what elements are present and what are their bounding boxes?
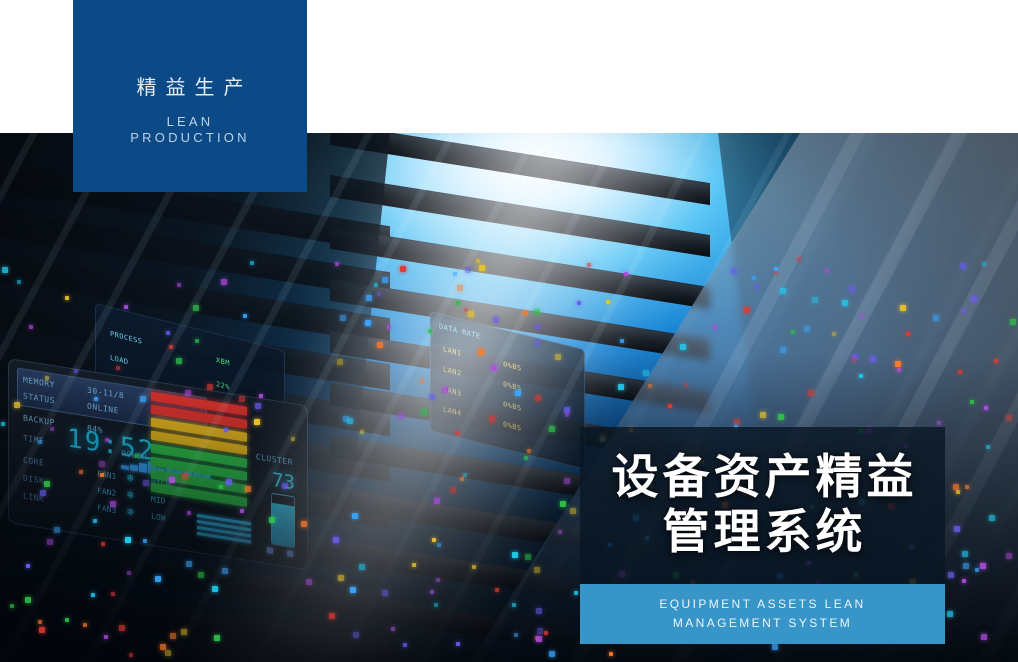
- rack-led: [333, 537, 339, 543]
- rack-led: [544, 631, 548, 635]
- title-cn-line2: 管理系统: [596, 504, 929, 559]
- rack-led: [986, 445, 990, 449]
- rack-led: [515, 390, 521, 396]
- rack-led: [535, 395, 541, 401]
- rack-led: [93, 519, 97, 523]
- rack-led: [38, 620, 42, 624]
- rack-led: [752, 276, 756, 280]
- rack-led: [365, 320, 371, 326]
- rack-led: [791, 330, 795, 334]
- rack-led: [684, 383, 688, 387]
- rack-led: [731, 268, 737, 274]
- rack-led: [337, 359, 343, 365]
- rack-led: [301, 521, 307, 527]
- rack-led: [14, 402, 20, 408]
- rack-led: [514, 633, 518, 637]
- rack-led: [186, 561, 192, 567]
- rack-led: [221, 279, 227, 285]
- rack-led: [400, 266, 406, 272]
- rack-led: [101, 542, 105, 546]
- rack-led: [852, 358, 856, 362]
- rack-led: [963, 563, 969, 569]
- rack-led: [50, 427, 54, 431]
- rack-led: [525, 554, 531, 560]
- rack-led: [937, 421, 941, 425]
- rack-led: [453, 272, 457, 276]
- rack-led: [110, 501, 116, 507]
- rack-led: [472, 565, 476, 569]
- rack-led: [26, 564, 30, 568]
- rack-led: [774, 267, 778, 271]
- rack-led: [170, 633, 176, 639]
- title-card-foot: EQUIPMENT ASSETS LEAN MANAGEMENT SYSTEM: [580, 584, 945, 644]
- rack-led: [193, 305, 199, 311]
- rack-led: [198, 572, 204, 578]
- rack-led: [842, 300, 848, 306]
- rack-led: [954, 526, 960, 532]
- rack-led: [306, 579, 312, 585]
- rack-led: [537, 628, 543, 634]
- rack-led: [65, 618, 69, 622]
- rack-led: [40, 490, 46, 496]
- rack-led: [377, 342, 383, 348]
- rack-led: [428, 329, 432, 333]
- rack-led: [982, 262, 986, 266]
- rack-led: [1010, 319, 1016, 325]
- rack-led: [618, 384, 624, 390]
- rack-led: [91, 593, 95, 597]
- rack-led: [536, 608, 542, 614]
- rack-led: [460, 477, 464, 481]
- rack-led: [536, 636, 542, 642]
- rack-led: [176, 358, 182, 364]
- rack-led: [222, 568, 228, 574]
- rack-led: [734, 419, 740, 425]
- rack-led: [214, 635, 220, 641]
- rack-led: [169, 477, 175, 483]
- rack-led: [335, 262, 339, 266]
- rack-led: [282, 483, 288, 489]
- rack-led: [212, 586, 218, 592]
- rack-led: [259, 394, 263, 398]
- rack-led: [534, 567, 540, 573]
- rack-led: [933, 315, 939, 321]
- rack-led: [1, 422, 5, 426]
- rack-led: [491, 365, 497, 371]
- rack-led: [1006, 415, 1012, 421]
- rack-led: [564, 478, 570, 484]
- rack-led: [421, 409, 427, 415]
- rack-led: [994, 359, 998, 363]
- rack-led: [104, 635, 108, 639]
- rack-led: [374, 283, 378, 287]
- rack-led: [620, 339, 624, 343]
- rack-led: [560, 501, 566, 507]
- rack-led: [359, 564, 365, 570]
- rack-led: [226, 479, 232, 485]
- rack-led: [956, 490, 960, 494]
- rack-led: [366, 295, 372, 301]
- rack-led: [129, 653, 133, 657]
- rack-led: [680, 344, 686, 350]
- rack-led: [100, 473, 104, 477]
- rack-led: [429, 394, 435, 400]
- rack-led: [160, 644, 166, 650]
- rack-led: [859, 374, 863, 378]
- rack-led: [456, 431, 460, 435]
- rack-led: [207, 384, 213, 390]
- rack-led: [195, 339, 199, 343]
- rack-led: [94, 397, 98, 401]
- rack-led: [980, 563, 986, 569]
- rack-led: [127, 571, 131, 575]
- rack-led: [239, 396, 245, 402]
- rack-led: [478, 349, 484, 355]
- rack-led: [565, 413, 569, 417]
- rack-led: [476, 259, 480, 263]
- rack-led: [79, 470, 83, 474]
- rack-led: [479, 265, 485, 271]
- rack-led: [797, 257, 801, 261]
- rack-led: [860, 314, 864, 318]
- rack-led: [182, 473, 188, 479]
- rack-led: [187, 511, 191, 515]
- rack-led: [648, 384, 652, 388]
- rack-led: [965, 485, 969, 489]
- rack-led: [377, 292, 381, 296]
- rack-led: [329, 613, 335, 619]
- rack-led: [897, 368, 901, 372]
- rack-led: [900, 305, 906, 311]
- rack-led: [29, 325, 33, 329]
- brand-en-line1: LEAN: [130, 114, 249, 130]
- rack-led: [387, 325, 391, 329]
- title-card: 设备资产精益 管理系统 EQUIPMENT ASSETS LEAN MANAGE…: [580, 427, 945, 644]
- rack-led: [606, 300, 610, 304]
- rack-led: [54, 527, 60, 533]
- rack-led: [352, 513, 358, 519]
- rack-led: [713, 325, 717, 329]
- rack-led: [412, 563, 416, 567]
- rack-led: [849, 286, 855, 292]
- rack-led: [534, 309, 540, 315]
- rack-led: [774, 270, 778, 274]
- rack-led: [398, 413, 404, 419]
- title-cn-line1: 设备资产精益: [596, 449, 929, 504]
- rack-led: [574, 591, 578, 595]
- rack-led: [105, 438, 109, 442]
- rack-led: [812, 297, 818, 303]
- rack-led: [524, 456, 528, 460]
- rack-led: [895, 361, 901, 367]
- rack-led: [981, 634, 987, 640]
- rack-led: [465, 267, 471, 273]
- rack-led: [291, 437, 295, 441]
- rack-led: [780, 288, 786, 294]
- rack-led: [555, 354, 561, 360]
- rack-led: [570, 508, 576, 514]
- rack-led: [111, 592, 115, 596]
- rack-led: [430, 590, 434, 594]
- rack-led: [434, 498, 440, 504]
- rack-led: [143, 539, 147, 543]
- title-en-subtitle: EQUIPMENT ASSETS LEAN MANAGEMENT SYSTEM: [659, 595, 865, 632]
- rack-led: [65, 296, 69, 300]
- rack-led: [489, 416, 495, 422]
- rack-led: [350, 587, 356, 593]
- rack-led: [99, 461, 105, 467]
- rack-led: [456, 301, 460, 305]
- rack-led: [420, 379, 424, 383]
- rack-led: [947, 611, 953, 617]
- rack-led: [962, 551, 968, 557]
- rack-led: [240, 509, 244, 513]
- rack-led: [962, 579, 966, 583]
- rack-led: [457, 285, 463, 291]
- rack-led: [989, 515, 995, 521]
- rack-led: [643, 370, 649, 376]
- rack-led: [512, 603, 516, 607]
- rack-led: [755, 285, 759, 289]
- rack-led: [577, 301, 581, 305]
- rack-led: [124, 305, 128, 309]
- rack-led: [960, 263, 966, 269]
- rack-led: [772, 644, 778, 650]
- rack-led: [958, 370, 962, 374]
- rack-led: [391, 627, 395, 631]
- rack-led: [219, 485, 223, 489]
- rack-led: [269, 517, 275, 523]
- rack-led: [468, 311, 474, 317]
- title-en-line1: EQUIPMENT ASSETS LEAN: [659, 595, 865, 614]
- rack-led: [403, 643, 407, 647]
- rack-led: [155, 576, 161, 582]
- rack-led: [17, 280, 21, 284]
- rack-led: [125, 537, 131, 543]
- rack-led: [668, 404, 672, 408]
- rack-led: [975, 568, 979, 572]
- rack-led: [456, 642, 460, 646]
- brand-en-line2: PRODUCTION: [130, 130, 249, 146]
- rack-led: [165, 650, 171, 656]
- rack-led: [609, 652, 613, 656]
- rack-led: [47, 539, 53, 545]
- rack-led: [116, 366, 120, 370]
- rack-led: [825, 269, 829, 273]
- rack-led: [971, 296, 977, 302]
- rack-led: [382, 590, 388, 596]
- rack-led: [436, 578, 440, 582]
- rack-led: [353, 632, 359, 638]
- rack-led: [624, 272, 628, 276]
- title-en-line2: MANAGEMENT SYSTEM: [659, 614, 865, 633]
- brand-cn-title: 精益生产: [128, 78, 253, 98]
- rack-led: [948, 572, 954, 578]
- brand-panel: 精益生产 LEAN PRODUCTION: [73, 0, 307, 192]
- rack-led: [340, 315, 346, 321]
- rack-led: [38, 440, 42, 444]
- rack-led: [45, 376, 49, 380]
- rack-led: [536, 325, 540, 329]
- rack-led: [224, 428, 228, 432]
- rack-led: [1006, 553, 1012, 559]
- rack-led: [254, 419, 260, 425]
- rack-led: [523, 311, 527, 315]
- rack-led: [338, 575, 344, 581]
- rack-led: [549, 651, 555, 657]
- rack-led: [39, 627, 45, 633]
- rack-led: [953, 484, 959, 490]
- rack-led: [804, 326, 810, 332]
- rack-led: [434, 603, 438, 607]
- rack-led: [744, 307, 750, 313]
- rack-led: [512, 552, 518, 558]
- rack-led: [347, 418, 353, 424]
- rack-led: [808, 390, 814, 396]
- rack-led: [564, 407, 570, 413]
- rack-led: [527, 449, 531, 453]
- rack-led: [778, 414, 784, 420]
- rack-led: [780, 347, 786, 353]
- rack-led: [382, 277, 388, 283]
- rack-led: [25, 597, 31, 603]
- rack-led: [970, 400, 974, 404]
- rack-led: [169, 345, 173, 349]
- rack-led: [442, 387, 448, 393]
- rack-led: [962, 309, 966, 313]
- rack-led: [44, 481, 50, 487]
- rack-led: [245, 486, 251, 492]
- rack-led: [135, 454, 139, 458]
- rack-led: [10, 604, 14, 608]
- rack-led: [437, 543, 441, 547]
- rack-led: [360, 430, 364, 434]
- rack-led: [906, 332, 910, 336]
- rack-led: [140, 396, 146, 402]
- rack-led: [558, 530, 562, 534]
- rack-led: [984, 406, 988, 410]
- rack-led: [450, 487, 456, 493]
- rack-led: [463, 473, 467, 477]
- rack-led: [432, 538, 436, 542]
- rack-led: [832, 332, 836, 336]
- rack-led: [177, 283, 181, 287]
- rack-led: [493, 317, 499, 323]
- rack-led: [83, 623, 87, 627]
- rack-led: [250, 261, 254, 265]
- rack-led: [166, 331, 170, 335]
- rack-led: [119, 625, 125, 631]
- rack-led: [549, 426, 555, 432]
- rack-led: [74, 369, 78, 373]
- rack-led: [143, 480, 149, 486]
- poster-canvas: PROCESSXBMLOAD22%FREE48%NORMALIZED1706K …: [0, 0, 1018, 662]
- title-card-head: 设备资产精益 管理系统: [580, 427, 945, 584]
- rack-led: [870, 356, 876, 362]
- rack-led: [243, 314, 247, 318]
- rack-led: [760, 412, 766, 418]
- rack-led: [587, 263, 591, 267]
- brand-en-subtitle: LEAN PRODUCTION: [130, 114, 249, 147]
- rack-led: [181, 629, 187, 635]
- rack-led: [2, 267, 8, 273]
- rack-led: [185, 390, 191, 396]
- rack-led: [255, 403, 261, 409]
- rack-led: [495, 588, 499, 592]
- rack-led: [534, 340, 540, 346]
